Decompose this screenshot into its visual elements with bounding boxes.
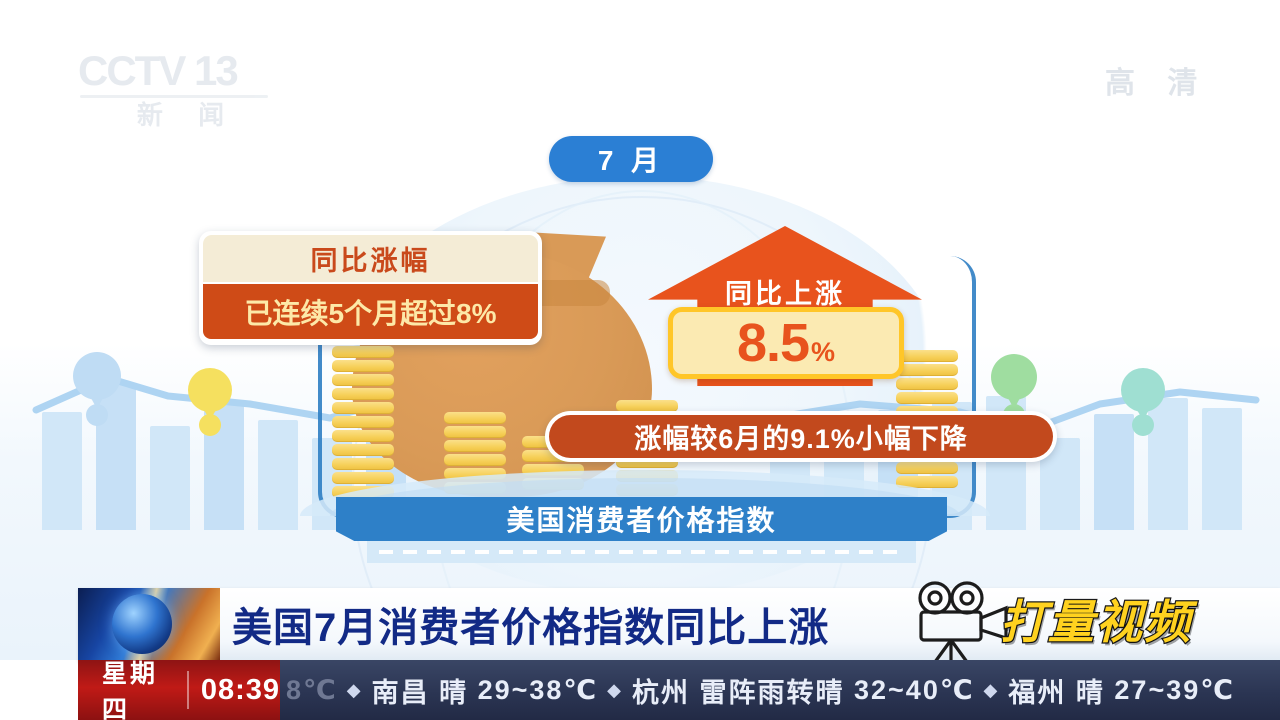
ticker-city-2: 杭州 [632,671,690,710]
cctv13-logo-text: CCTV 13 [78,48,283,94]
coin-stack-left [332,346,394,500]
ticker-separator-2: ◆ [598,680,632,701]
ticker-range-2: 32~40℃ [854,675,975,706]
marker-balloon-blue [73,352,121,400]
month-pill-label: 7 月 [598,139,664,179]
dashed-baseline-band [367,541,916,563]
yoy-increase-card-header: 同比涨幅 [203,235,538,282]
percent-value: 8.5 [737,316,809,370]
ticker-partial-temp: 8℃ [286,675,338,706]
ticker-range-1: 29~38℃ [478,675,599,706]
yoy-increase-card-header-label: 同比涨幅 [311,239,431,278]
video-watermark: 打量视频 [1000,586,1192,652]
headline-text: 美国7月消费者价格指数同比上涨 [232,595,829,653]
news-globe-thumbnail [78,588,220,660]
cctv13-logo-subtitle: 新 闻 [78,100,283,130]
marker-balloon-green [991,354,1037,400]
ticker-condition-3: 晴 [1076,671,1105,710]
marker-dot-blue [86,404,108,426]
yoy-increase-card-body: 已连续5个月超过8% [203,284,538,339]
ticker-datetime-block: 星期四 08:39 [78,660,280,720]
marker-balloon-teal [1121,368,1165,412]
ticker-weather-text: 8℃ ◆ 南昌 晴 29~38℃ ◆ 杭州 雷阵雨转晴 32~40℃ ◆ 福州 … [286,660,1235,720]
yoy-increase-card-body-label: 已连续5个月超过8% [244,292,496,332]
ticker-separator-1: ◆ [338,680,372,701]
ticker-separator-3: ◆ [975,680,1009,701]
month-pill: 7 月 [549,136,713,182]
cctv13-logo: CCTV 13 新 闻 [78,48,283,132]
ticker-divider [187,671,189,709]
chart-title-label: 美国消费者价格指数 [506,499,776,539]
percent-symbol: % [809,319,835,368]
hd-badge: 高 清 [1105,58,1209,102]
marker-dot-yellow [199,414,221,436]
chart-title-bar: 美国消费者价格指数 [336,497,947,541]
ticker-weekday: 星期四 [78,654,175,720]
ticker-city-3: 福州 [1008,671,1066,710]
ticker-range-3: 27~39℃ [1114,675,1235,706]
broadcast-screen: CCTV 13 新 闻 高 清 7 月 同比涨幅 已连续5个月超过8% 同比上涨… [0,0,1280,720]
news-globe-streak [78,588,220,660]
yoy-increase-card: 同比涨幅 已连续5个月超过8% [199,231,542,345]
dashed-baseline [379,550,904,554]
up-arrow-label: 同比上涨 [648,272,922,311]
ticker-city-1: 南昌 [372,671,430,710]
marker-balloon-yellow [188,368,232,412]
comparison-callout-inner: 涨幅较6月的9.1%小幅下降 [549,415,1053,458]
ticker-condition-2: 雷阵雨转晴 [699,671,844,710]
marker-dot-teal [1132,414,1154,436]
comparison-callout-bar: 涨幅较6月的9.1%小幅下降 [545,411,1057,462]
cctv13-logo-rule [80,95,268,98]
ticker-condition-1: 晴 [439,671,468,710]
percent-value-box: 8.5 % [668,307,904,379]
ticker-time: 08:39 [201,674,280,707]
comparison-callout-label: 涨幅较6月的9.1%小幅下降 [634,417,968,456]
